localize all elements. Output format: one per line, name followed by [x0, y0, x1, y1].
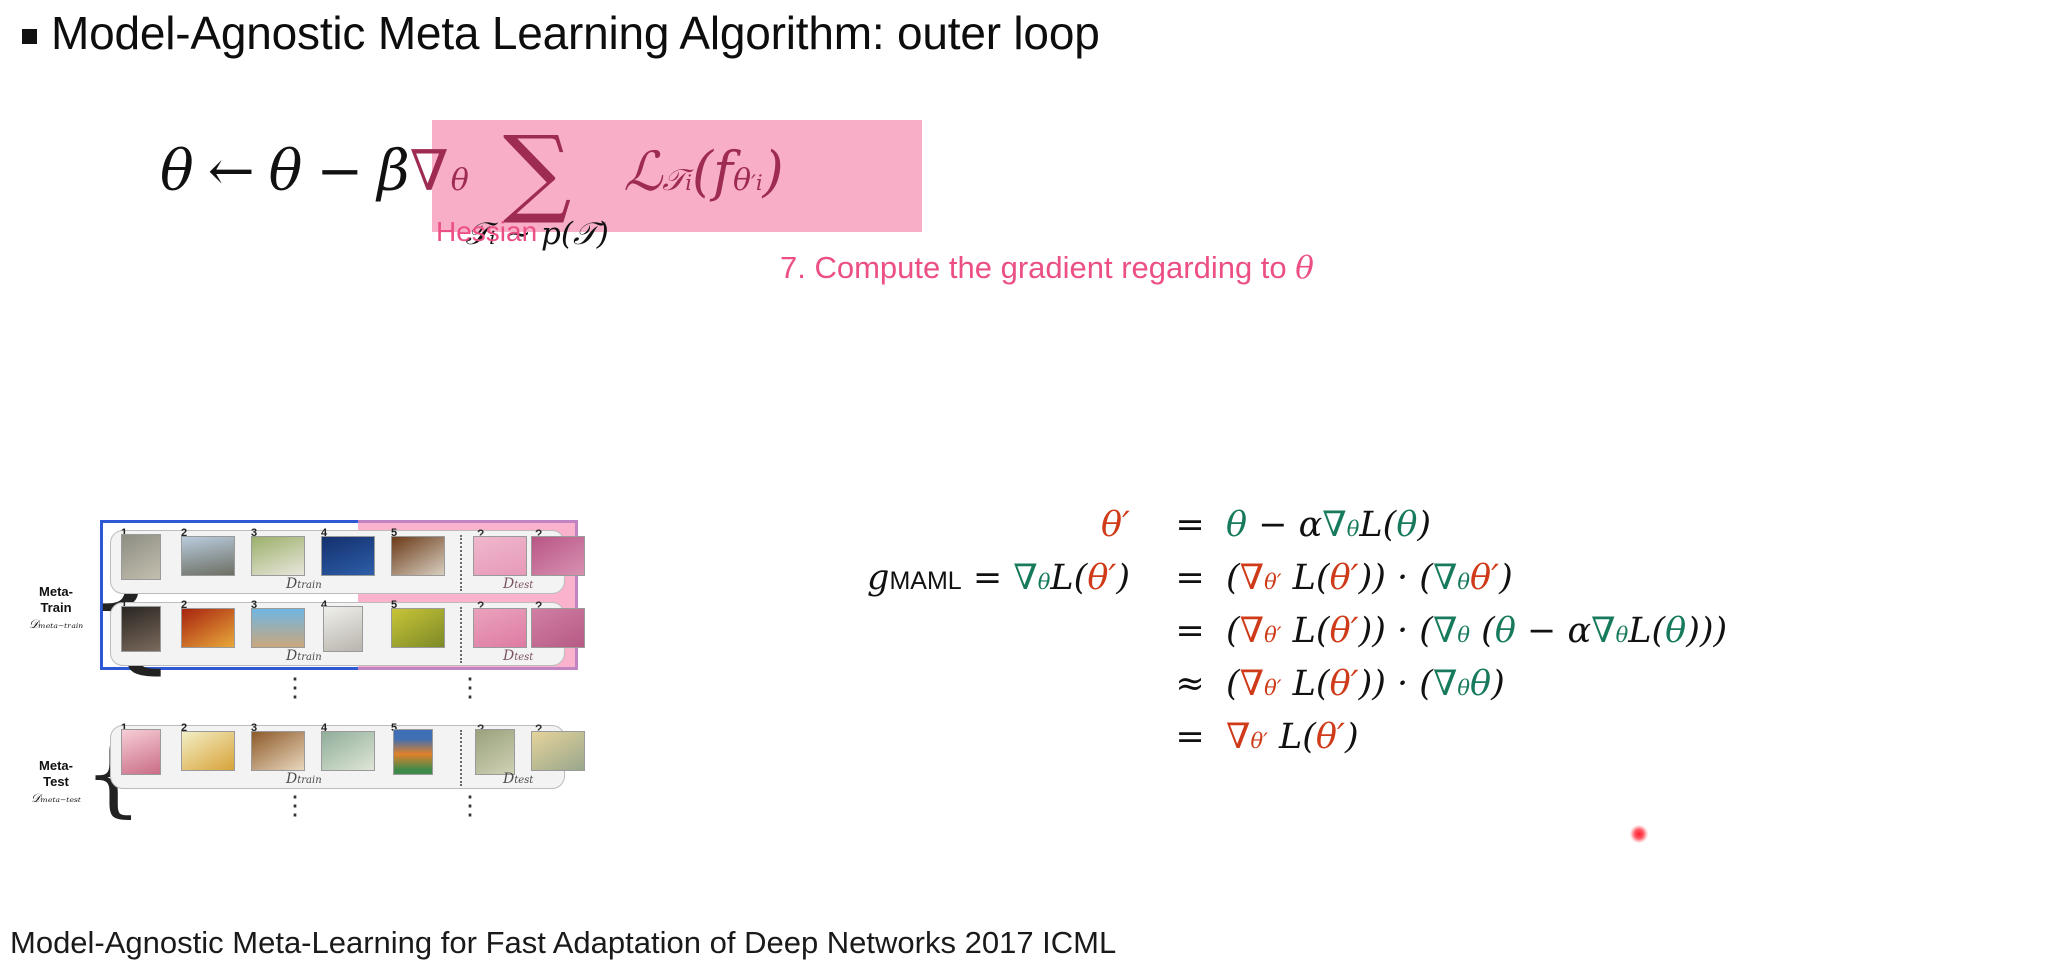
derivation-rhs: (∇θ′ L(θ′)) · (∇θ (θ − α∇θL(θ))) — [1226, 611, 2010, 651]
piano-thumb — [391, 536, 445, 576]
step-annotation: 7. Compute the gradient regarding to θ — [780, 250, 1314, 286]
bowl-test-thumb — [531, 731, 585, 771]
person-thumb — [121, 606, 161, 652]
lion-test-thumb — [475, 729, 515, 775]
d-train-label: Dtrain — [286, 771, 322, 787]
derivation-relation: = — [1154, 717, 1226, 757]
gmaml-equals: = — [973, 558, 1002, 598]
d-train-label: Dtrain — [286, 648, 322, 664]
derivation-lhs: θ′ — [830, 505, 1154, 545]
gmaml-subscript: MAML — [889, 567, 961, 595]
face-test-thumb — [473, 608, 527, 648]
derivation-lhs-gmaml: gMAML = ∇θL(θ′) — [830, 558, 1154, 598]
summation-icon: ∑ — [503, 134, 572, 209]
baby-thumb — [121, 729, 161, 775]
loss-paren-open: ( — [692, 140, 713, 203]
gmaml-g: g — [867, 558, 889, 598]
derivation-row: ≈ (∇θ′ L(θ′)) · (∇θθ) — [830, 664, 2010, 700]
derivation-rhs: (∇θ′ L(θ′)) · (∇θθ′) — [1226, 558, 2010, 598]
meta-train-label-line1: Meta- — [39, 584, 73, 599]
task-row: 1 2 3 4 5 Dtrain ? ? Dtest — [110, 602, 565, 666]
derivation-rhs: θ − α∇θL(θ) — [1226, 505, 2010, 545]
meta-test-label-line2: Test — [43, 774, 69, 789]
hessian-annotation: Hessian — [436, 216, 537, 248]
piano-test-thumb — [531, 536, 585, 576]
derivation-row: θ′ = θ − α∇θL(θ) — [830, 505, 2010, 541]
market-thumb — [181, 608, 235, 648]
gmaml-theta-prime: θ′ — [1087, 558, 1116, 598]
d-train-label: Dtrain — [286, 576, 322, 592]
derivation-rhs: (∇θ′ L(θ′)) · (∇θθ) — [1226, 664, 2010, 704]
paper-citation-caption: Model-Agnostic Meta-Learning for Fast Ad… — [10, 925, 1116, 961]
task-row: 1 2 3 4 5 Dtrain ? ? Dtest — [110, 530, 565, 594]
loss-function-f: f — [713, 140, 733, 203]
train-test-divider — [460, 730, 462, 786]
loss-f-index: i — [756, 171, 763, 195]
maml-gradient-derivation: θ′ = θ − α∇θL(θ) gMAML = ∇θL(θ′) = (∇θ′ … — [830, 505, 2010, 770]
outer-loop-formula: θ ← θ − β ∇θ ∑ 𝒯ᵢ ∼ p(𝒯) ℒ𝒯i(fθ′i) Hessi… — [160, 120, 1360, 310]
derivation-relation: ≈ — [1154, 664, 1226, 704]
stack-thumb — [393, 729, 433, 775]
dog-thumb — [251, 731, 305, 771]
train-test-divider — [460, 607, 462, 663]
sheepdog-thumb — [251, 536, 305, 576]
formula-beta: β — [377, 139, 409, 204]
train-test-divider — [460, 535, 462, 591]
loss-f-theta-subscript: θ — [733, 163, 751, 198]
gmaml-nabla-sub: θ — [1038, 570, 1051, 594]
loss-paren-close: ) — [763, 140, 784, 203]
step-annotation-theta: θ — [1295, 250, 1314, 286]
meta-test-label-line1: Meta- — [39, 758, 73, 773]
derivation-row: = ∇θ′ L(θ′) — [830, 717, 2010, 753]
meta-dataset-diagram: { Meta- Train 𝒟ₘₑₜₐ₋ₜᵣₐᵢₙ { Meta- Test 𝒟… — [60, 500, 660, 900]
singer-thumb — [321, 536, 375, 576]
tank-thumb — [181, 536, 235, 576]
derivation-relation: = — [1154, 505, 1226, 545]
dog-test-thumb — [473, 536, 527, 576]
rope-thumb — [181, 731, 235, 771]
page-title: Model-Agnostic Meta Learning Algorithm: … — [51, 10, 1100, 56]
derivation-row: gMAML = ∇θL(θ′) = (∇θ′ L(θ′)) · (∇θθ′) — [830, 558, 2010, 594]
derivation-relation: = — [1154, 611, 1226, 651]
nabla-icon: ∇ — [410, 139, 449, 204]
vertical-dots: ⋮ — [457, 800, 483, 811]
meta-train-label-line2: Train — [40, 600, 71, 615]
snake-thumb — [121, 534, 161, 580]
vertical-dots: ⋮ — [282, 800, 308, 811]
formula-theta-lhs: θ — [160, 139, 194, 204]
d-test-label: Dtest — [503, 771, 533, 787]
slide-title-row: Model-Agnostic Meta Learning Algorithm: … — [22, 10, 1100, 56]
derivation-row: = (∇θ′ L(θ′)) · (∇θ (θ − α∇θL(θ))) — [830, 611, 2010, 647]
formula-summation: ∑ 𝒯ᵢ ∼ p(𝒯) — [503, 134, 572, 209]
derivation-relation: = — [1154, 558, 1226, 598]
landscape-test-thumb — [531, 608, 585, 648]
gmaml-L: L( — [1050, 558, 1087, 598]
coast-thumb — [251, 608, 305, 648]
loss-script-L: ℒ — [623, 140, 662, 203]
d-test-label: Dtest — [503, 648, 533, 664]
meta-test-label: Meta- Test 𝒟ₘₑₜₐ₋ₜₑₛₜ — [16, 758, 96, 806]
laser-pointer-dot — [1630, 825, 1648, 843]
square-bullet-icon — [22, 29, 37, 44]
formula-loss-term: ℒ𝒯i(fθ′i) — [623, 140, 783, 203]
meta-train-label: Meta- Train 𝒟ₘₑₜₐ₋ₜᵣₐᵢₙ — [16, 584, 96, 632]
formula-nabla-theta: ∇θ — [410, 139, 469, 204]
loss-task-index: i — [685, 171, 692, 195]
gmaml-close: ) — [1116, 558, 1130, 598]
toilet-thumb — [323, 606, 363, 652]
task-row: 1 2 3 4 5 Dtrain ? ? Dtest — [110, 725, 565, 789]
d-test-label: Dtest — [503, 576, 533, 592]
step-annotation-text: 7. Compute the gradient regarding to — [780, 250, 1295, 285]
derivation-rhs: ∇θ′ L(θ′) — [1226, 717, 2010, 757]
formula-expression: θ ← θ − β ∇θ ∑ 𝒯ᵢ ∼ p(𝒯) ℒ𝒯i(fθ′i) — [160, 134, 784, 209]
formula-minus: − — [316, 139, 363, 204]
banana-thumb — [391, 608, 445, 648]
nabla-subscript: θ — [451, 163, 469, 198]
vertical-dots: ⋮ — [282, 682, 308, 693]
gmaml-nabla: ∇ — [1013, 558, 1037, 598]
formula-theta-rhs: θ — [269, 139, 303, 204]
meta-test-script: 𝒟ₘₑₜₐ₋ₜₑₛₜ — [16, 791, 96, 806]
formula-left-arrow: ← — [208, 139, 255, 204]
vertical-dots: ⋮ — [457, 682, 483, 693]
loss-task-subscript: 𝒯 — [662, 163, 685, 198]
meta-train-script: 𝒟ₘₑₜₐ₋ₜᵣₐᵢₙ — [16, 617, 96, 632]
bear-thumb — [321, 731, 375, 771]
